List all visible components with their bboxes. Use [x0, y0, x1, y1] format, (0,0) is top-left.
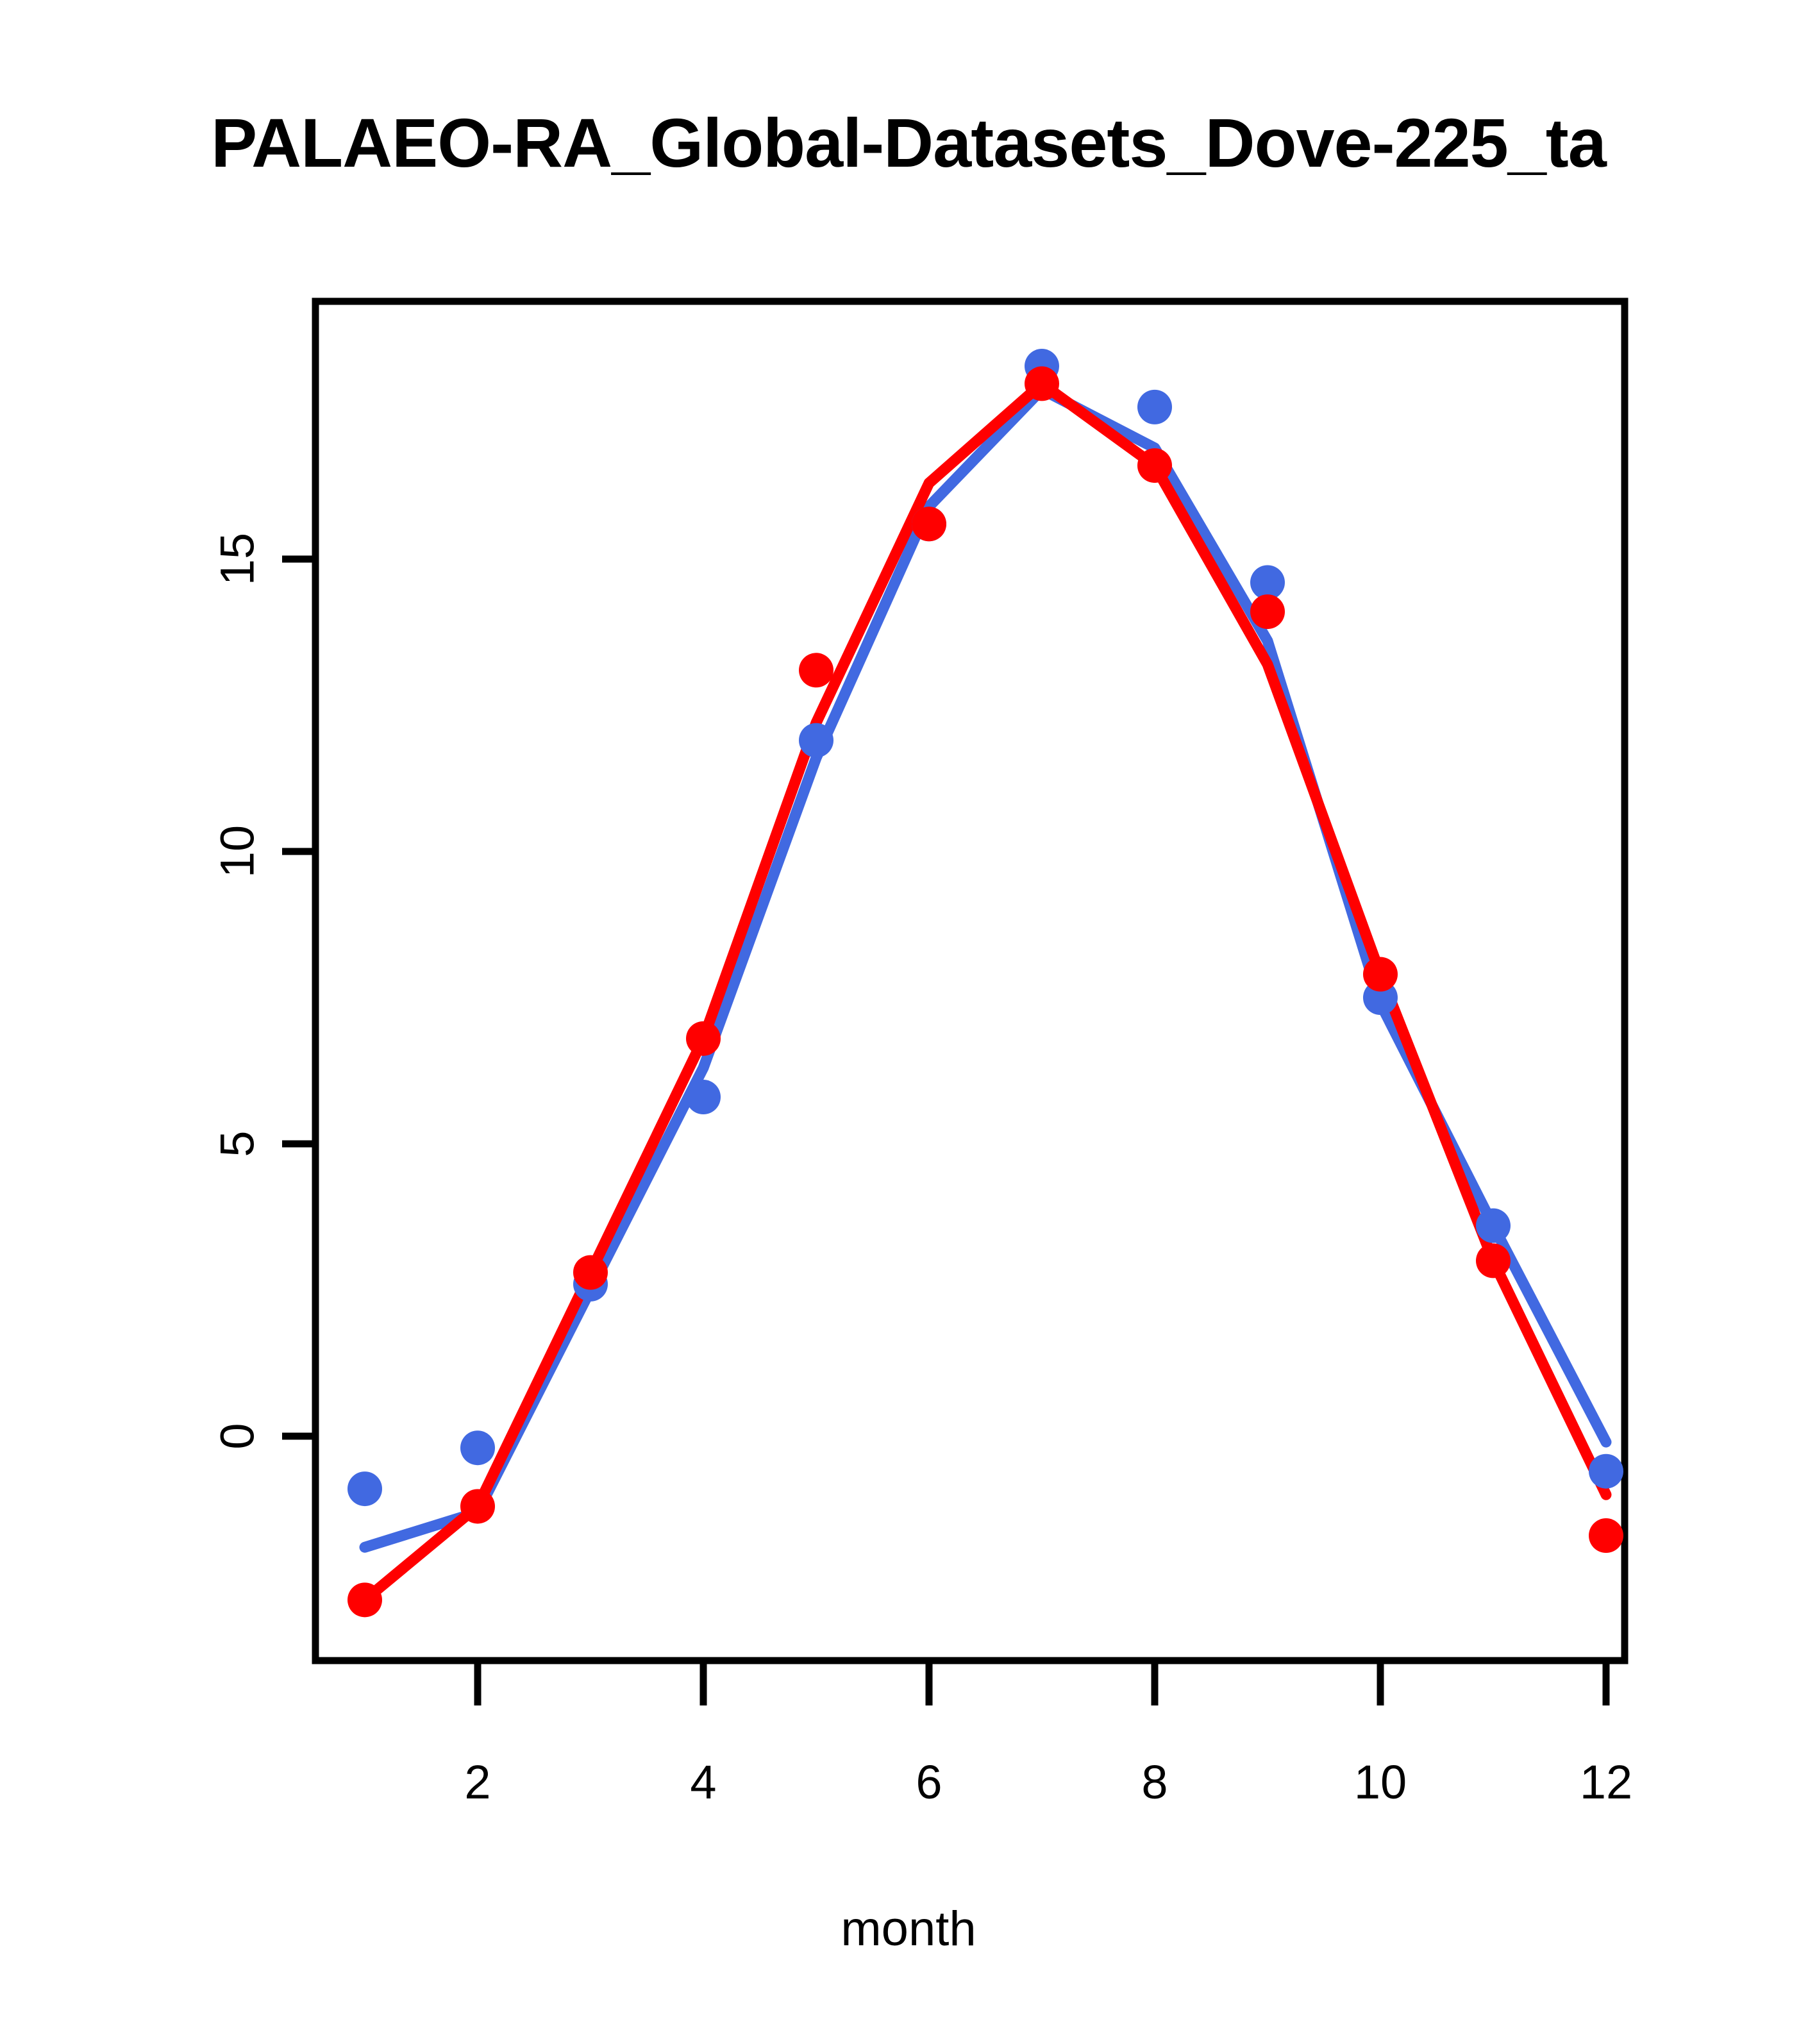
- blue-series-point: [460, 1430, 495, 1465]
- y-tick-label-10: 10: [211, 825, 264, 878]
- series-points-group: [347, 349, 1623, 1617]
- red-series-point: [1025, 366, 1059, 401]
- x-tick-label-2: 2: [464, 1755, 490, 1809]
- red-series-point: [460, 1489, 495, 1523]
- red-series-point: [1137, 448, 1172, 483]
- blue-series-line: [365, 390, 1606, 1548]
- blue-series-point: [799, 723, 833, 758]
- y-axis-ticks: [282, 559, 315, 1436]
- y-tick-label-15: 15: [211, 533, 264, 585]
- x-tick-label-12: 12: [1580, 1755, 1632, 1809]
- red-series-point: [347, 1582, 382, 1617]
- x-tick-label-6: 6: [916, 1755, 942, 1809]
- red-series-point: [1363, 957, 1398, 992]
- y-tick-label-5: 5: [211, 1130, 264, 1157]
- red-series-point: [573, 1255, 608, 1290]
- blue-series-point: [1476, 1209, 1511, 1243]
- blue-series-point: [1589, 1454, 1623, 1489]
- x-axis-label: month: [0, 1901, 1817, 1957]
- x-tick-label-4: 4: [690, 1755, 716, 1809]
- red-series-point: [1476, 1243, 1511, 1278]
- x-tick-label-8: 8: [1141, 1755, 1168, 1809]
- red-series-point: [799, 653, 833, 687]
- x-tick-label-10: 10: [1354, 1755, 1407, 1809]
- blue-series-point: [1137, 390, 1172, 424]
- x-axis-ticks: [478, 1661, 1606, 1705]
- series-lines-group: [365, 383, 1606, 1600]
- red-series-point: [1589, 1518, 1623, 1553]
- red-series-point: [686, 1021, 721, 1056]
- red-series-point: [912, 507, 946, 541]
- y-tick-label-0: 0: [211, 1423, 264, 1449]
- red-series-line: [365, 383, 1606, 1600]
- blue-series-point: [347, 1471, 382, 1506]
- plot-area: 15 10 5 0 2 4 6 8 10 12: [0, 0, 1817, 2044]
- blue-series-point: [686, 1080, 721, 1114]
- chart-page: PALAEO-RA_Global-Datasets_Dove-225_ta 15…: [0, 0, 1817, 2044]
- red-series-point: [1250, 594, 1285, 629]
- y-axis-tick-labels: 15 10 5 0: [211, 533, 264, 1450]
- x-axis-tick-labels: 2 4 6 8 10 12: [464, 1755, 1632, 1809]
